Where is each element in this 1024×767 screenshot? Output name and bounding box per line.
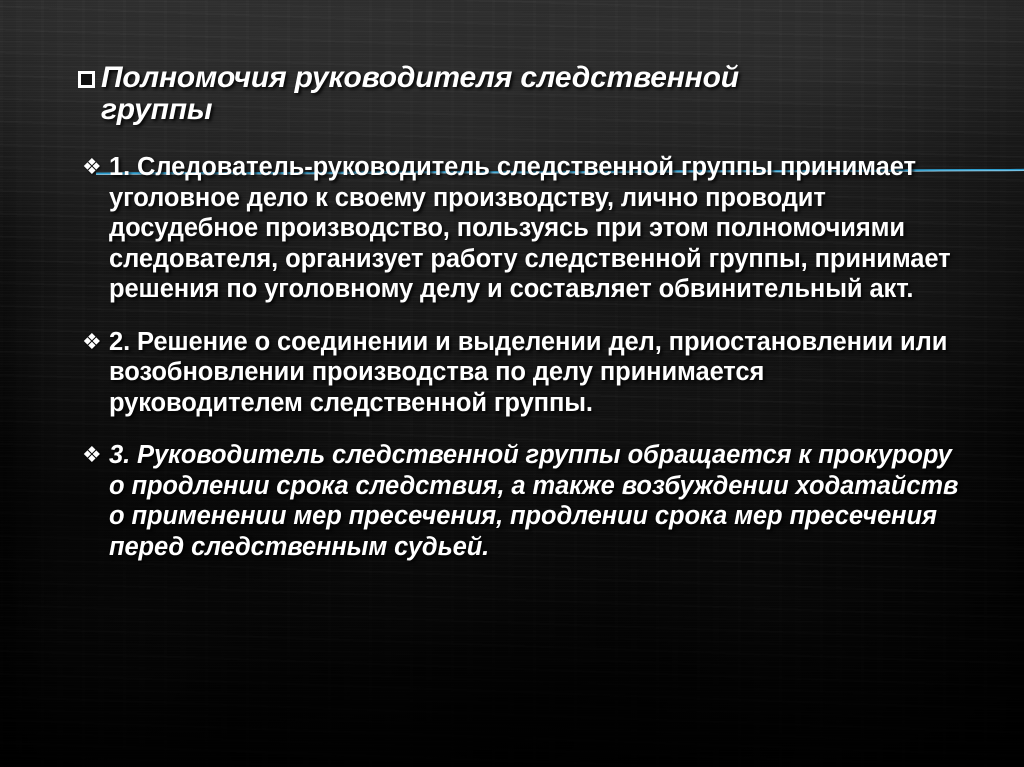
- list-item-text: 3. Руководитель следственной группы обра…: [109, 440, 962, 562]
- bullet-list: ❖ 1. Следователь-руководитель следственн…: [82, 152, 962, 584]
- slide-canvas: Полномочия руководителя следственной гру…: [0, 0, 1024, 767]
- slide-title: Полномочия руководителя следственной гру…: [78, 62, 778, 127]
- list-item: ❖ 1. Следователь-руководитель следственн…: [82, 152, 962, 305]
- slide-title-text: Полномочия руководителя следственной гру…: [101, 62, 778, 127]
- diamond-cluster-bullet-icon: ❖: [82, 152, 104, 182]
- diamond-cluster-bullet-icon: ❖: [82, 440, 104, 470]
- list-item: ❖ 3. Руководитель следственной группы об…: [82, 440, 962, 562]
- diamond-cluster-bullet-icon: ❖: [82, 327, 104, 357]
- slide-content: Полномочия руководителя следственной гру…: [0, 0, 1024, 767]
- list-item-text: 2. Решение о соединении и выделении дел,…: [109, 327, 962, 419]
- list-item-text: 1. Следователь-руководитель следственной…: [109, 152, 962, 305]
- hollow-square-bullet-icon: [78, 71, 95, 88]
- list-item: ❖ 2. Решение о соединении и выделении де…: [82, 327, 962, 419]
